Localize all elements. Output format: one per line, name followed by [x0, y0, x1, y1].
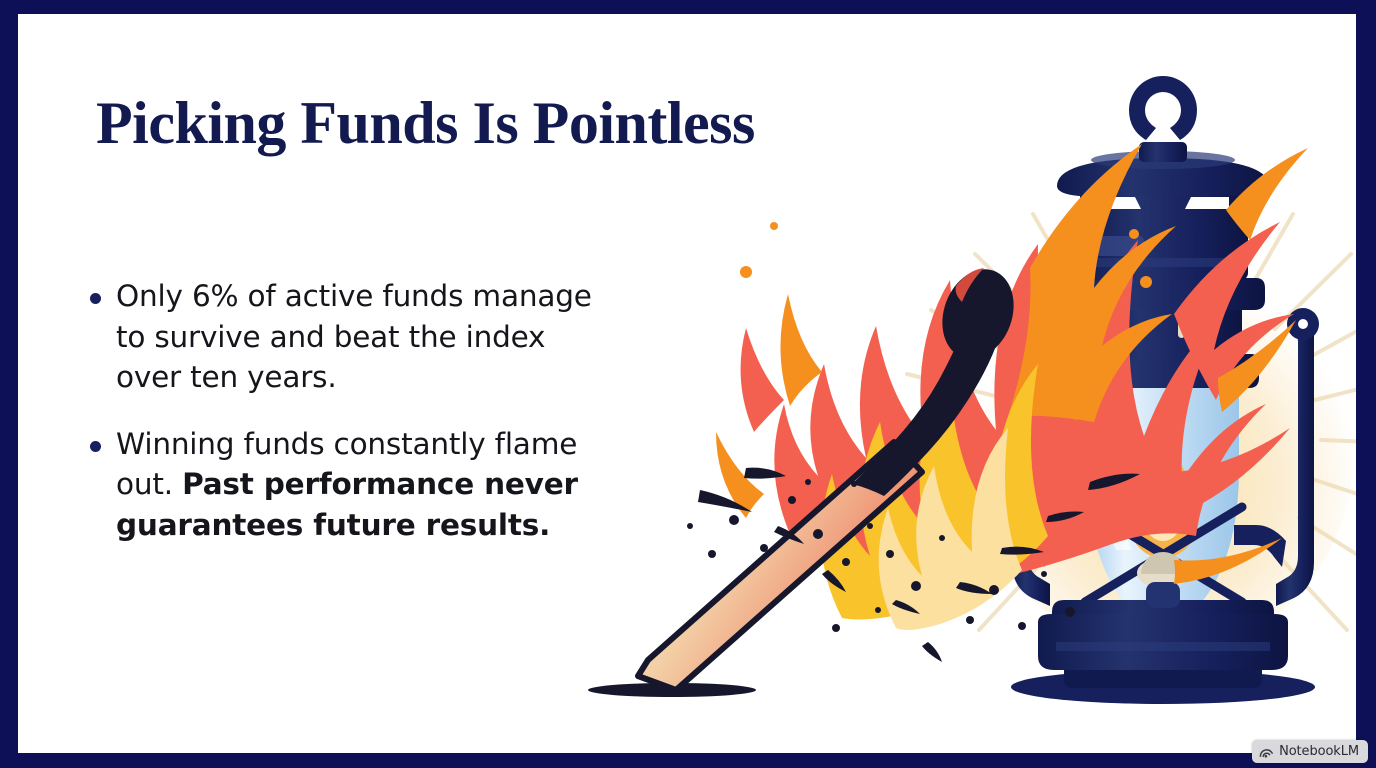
- bullet-dot-icon: [90, 293, 101, 304]
- list-item: Only 6% of active funds manage to surviv…: [90, 276, 600, 398]
- notebooklm-icon: [1259, 745, 1274, 758]
- slide-frame: Picking Funds Is Pointless Only 6% of ac…: [0, 0, 1376, 768]
- bullet-segment-plain: Only 6% of active funds manage to surviv…: [116, 279, 592, 394]
- bullet-segment-bold: Past performance never guarantees future…: [116, 467, 578, 542]
- list-item: Winning funds constantly flame out. Past…: [90, 424, 600, 546]
- notebooklm-watermark: NotebookLM: [1252, 740, 1368, 763]
- burning-matchstick-illustration: [578, 14, 1356, 753]
- bullet-dot-icon: [90, 441, 101, 452]
- bullet-list: Only 6% of active funds manage to surviv…: [90, 276, 600, 571]
- notebooklm-label: NotebookLM: [1279, 744, 1359, 759]
- slide-card: Picking Funds Is Pointless Only 6% of ac…: [18, 14, 1356, 753]
- bullet-item-text-1: Only 6% of active funds manage to surviv…: [116, 276, 600, 398]
- bullet-item-text-2: Winning funds constantly flame out. Past…: [116, 424, 600, 546]
- illustration-area: [578, 14, 1356, 753]
